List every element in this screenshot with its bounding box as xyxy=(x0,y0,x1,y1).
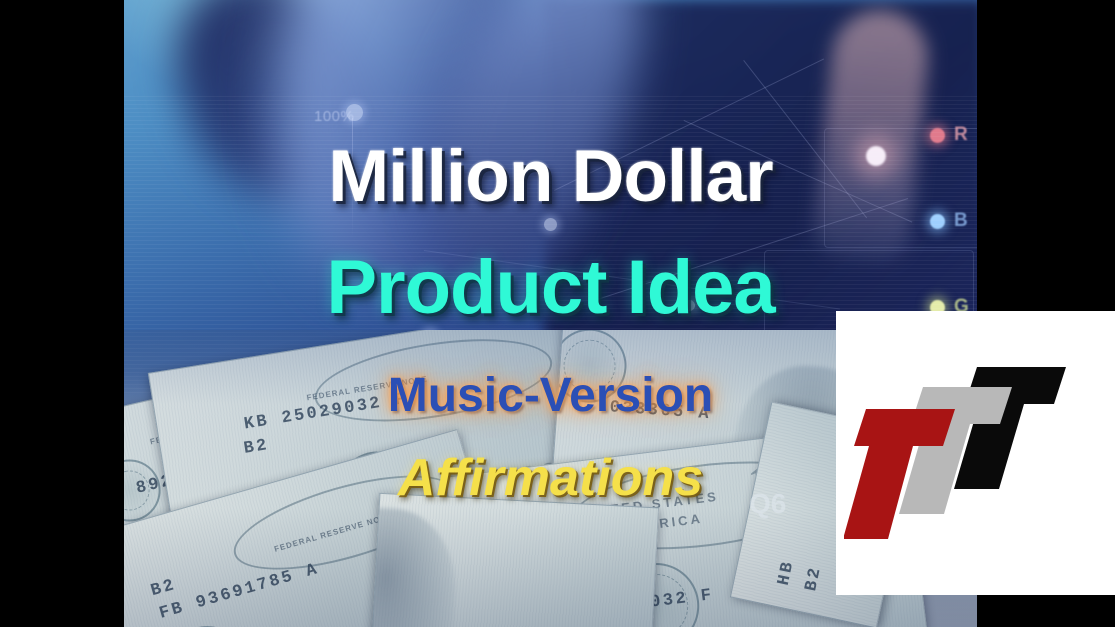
title-line-1: Million Dollar xyxy=(124,140,977,213)
letterbox-bar-left xyxy=(0,0,124,627)
logo-t-black xyxy=(954,367,1066,489)
thumbnail-canvas: 100% 25% R B G FEDERAL xyxy=(0,0,1115,627)
channel-logo[interactable] xyxy=(836,311,1115,595)
ttt-logo-icon xyxy=(844,329,1094,579)
